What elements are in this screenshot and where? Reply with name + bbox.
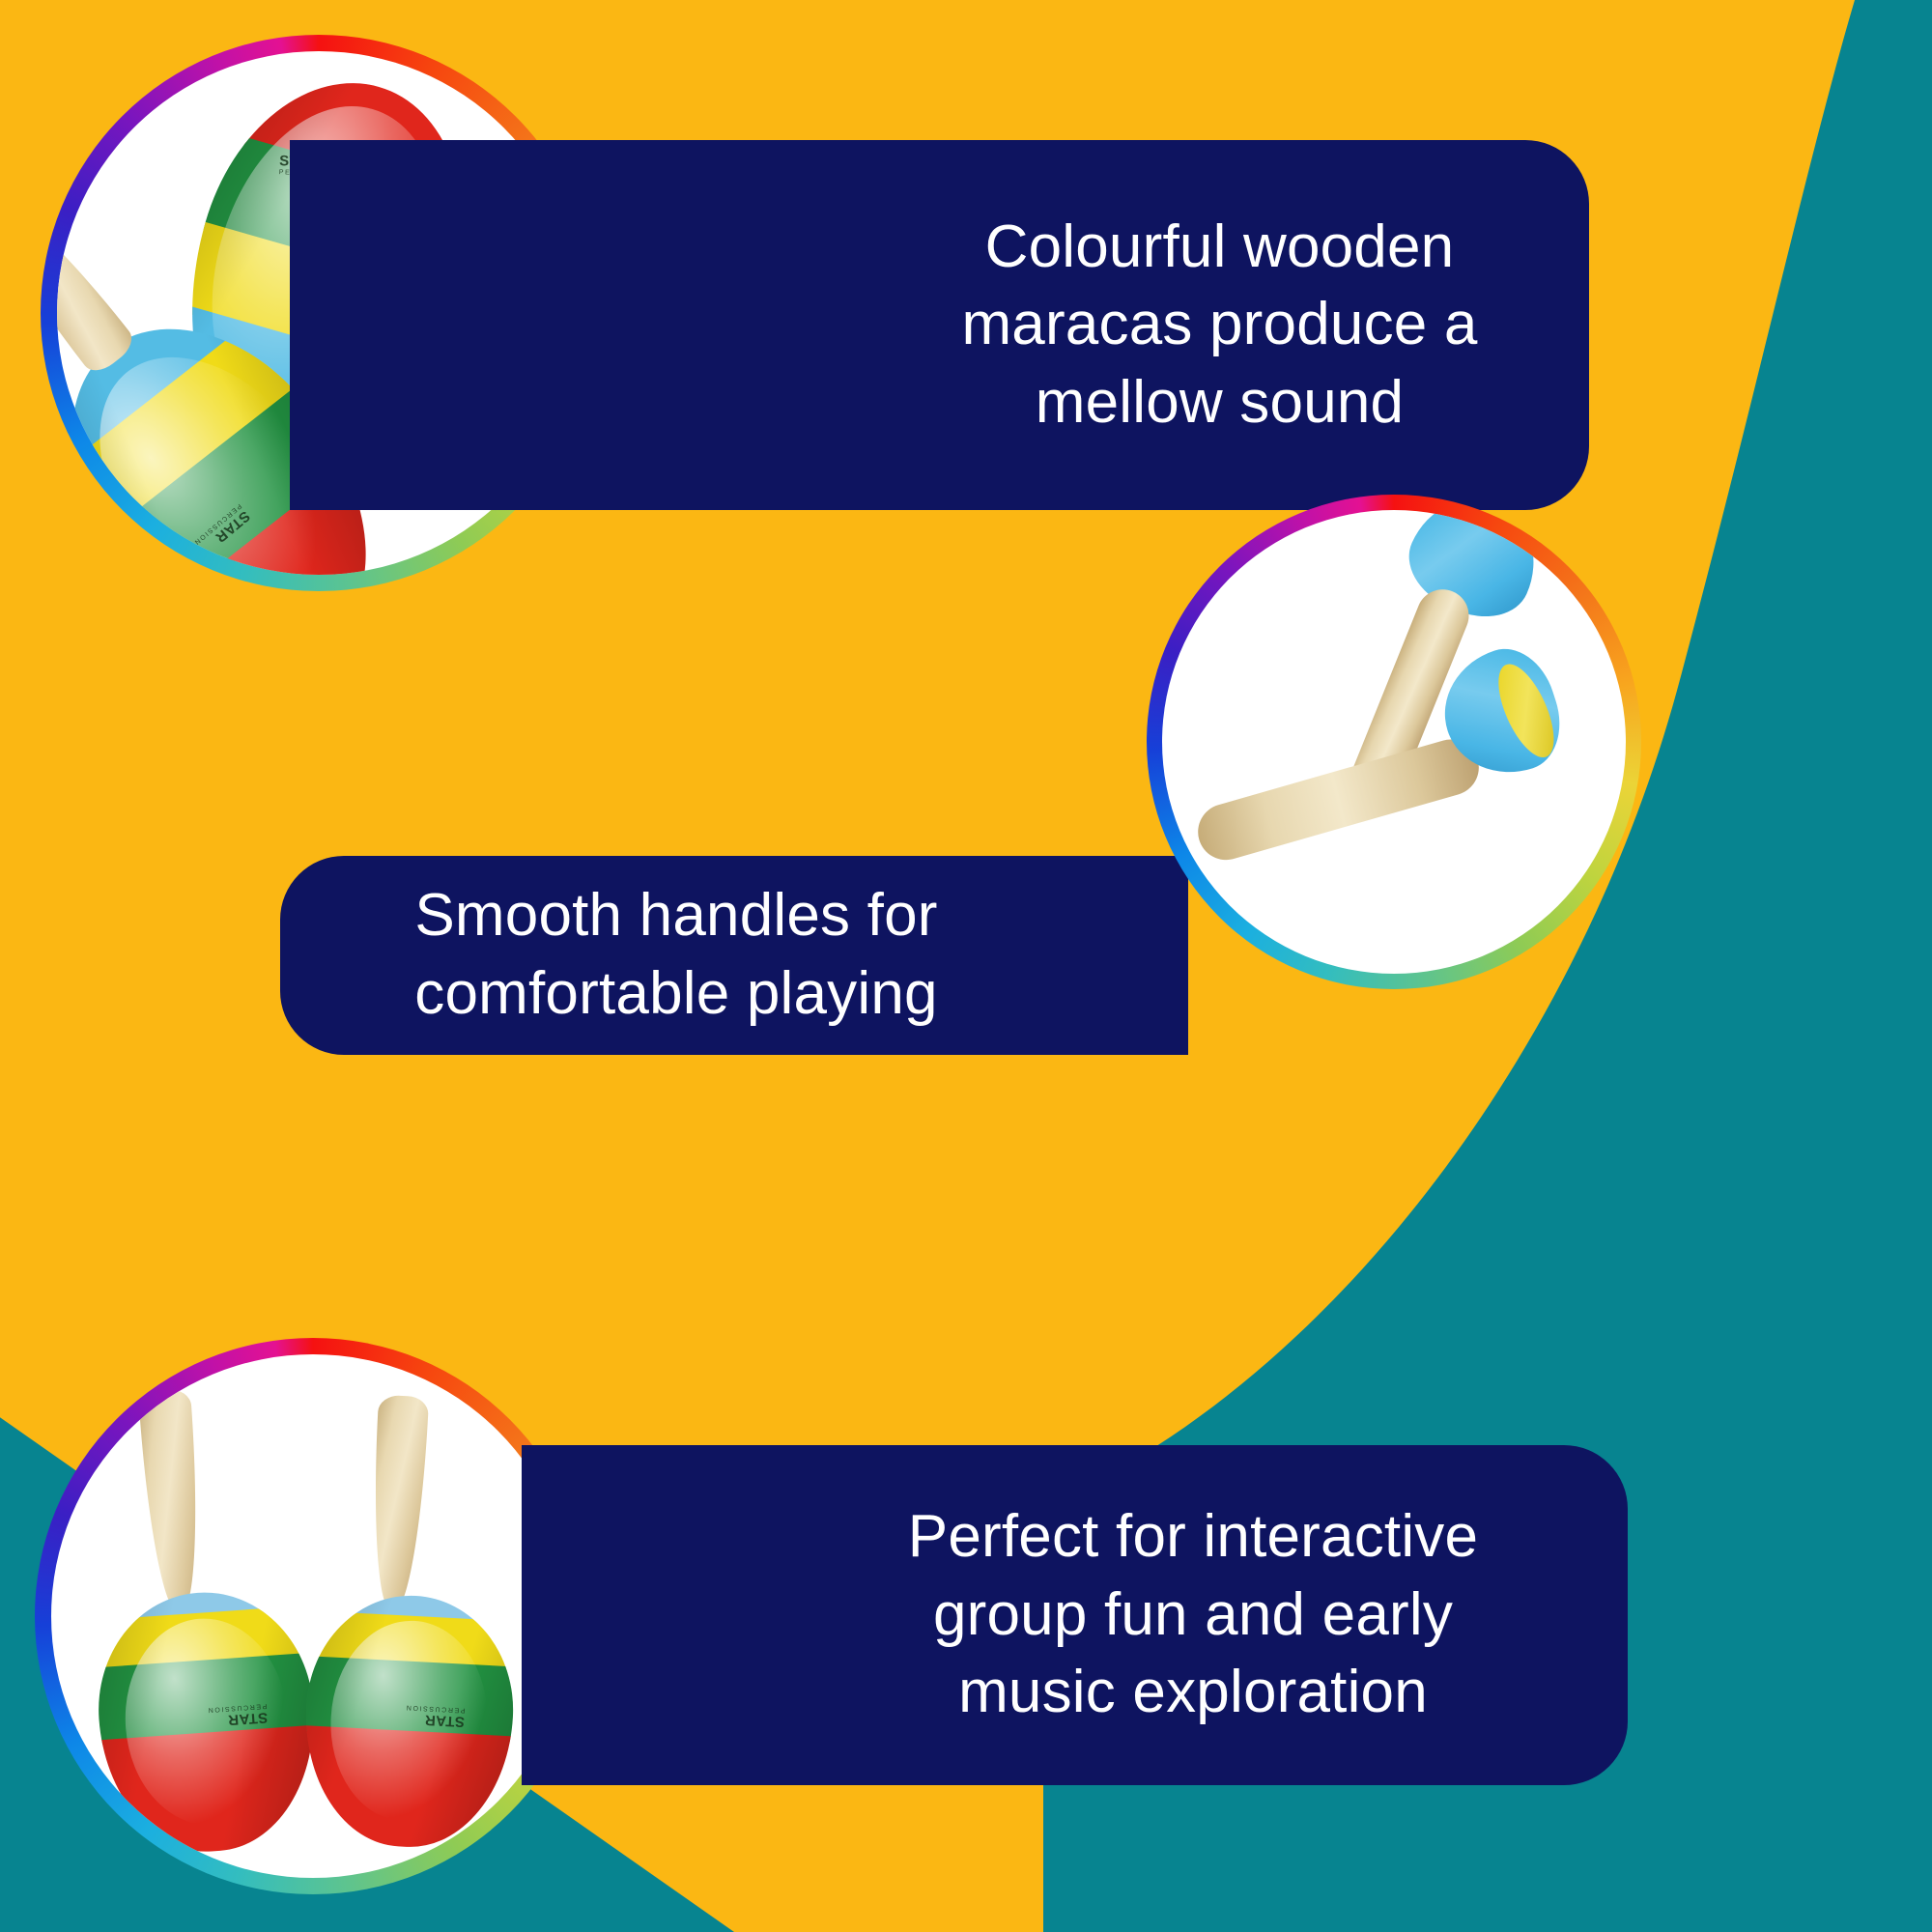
brand-logo-right: STARPERCUSSION — [404, 1704, 465, 1730]
infographic-canvas: STARPERCUSSION STARPERCUSSION — [0, 0, 1932, 1932]
feature-photo-2-image — [1162, 510, 1626, 974]
maraca-left-upright: STARPERCUSSION — [74, 1380, 329, 1868]
feature-text-1: Colourful wooden maracas produce a mello… — [908, 209, 1531, 442]
feature-photo-3-image: STARPERCUSSION STARPERCUSSION — [51, 1354, 575, 1878]
feature-photo-2 — [1147, 495, 1641, 989]
feature-text-3: Perfect for interactive group fun and ea… — [826, 1498, 1560, 1732]
brand-logo-left: STARPERCUSSION — [207, 1702, 269, 1729]
maraca-right-upright: STARPERCUSSION — [298, 1392, 545, 1866]
feature-panel-3: Perfect for interactive group fun and ea… — [522, 1445, 1628, 1785]
maraca-left-head: STARPERCUSSION — [91, 1585, 323, 1859]
feature-text-2: Smooth handles for comfortable playing — [338, 877, 1014, 1033]
feature-panel-2: Smooth handles for comfortable playing — [280, 856, 1188, 1055]
maraca-b-handle — [57, 191, 139, 378]
maraca-right-head: STARPERCUSSION — [299, 1590, 519, 1852]
feature-photo-3: STARPERCUSSION STARPERCUSSION — [35, 1338, 591, 1894]
feature-panel-1: Colourful wooden maracas produce a mello… — [290, 140, 1589, 510]
